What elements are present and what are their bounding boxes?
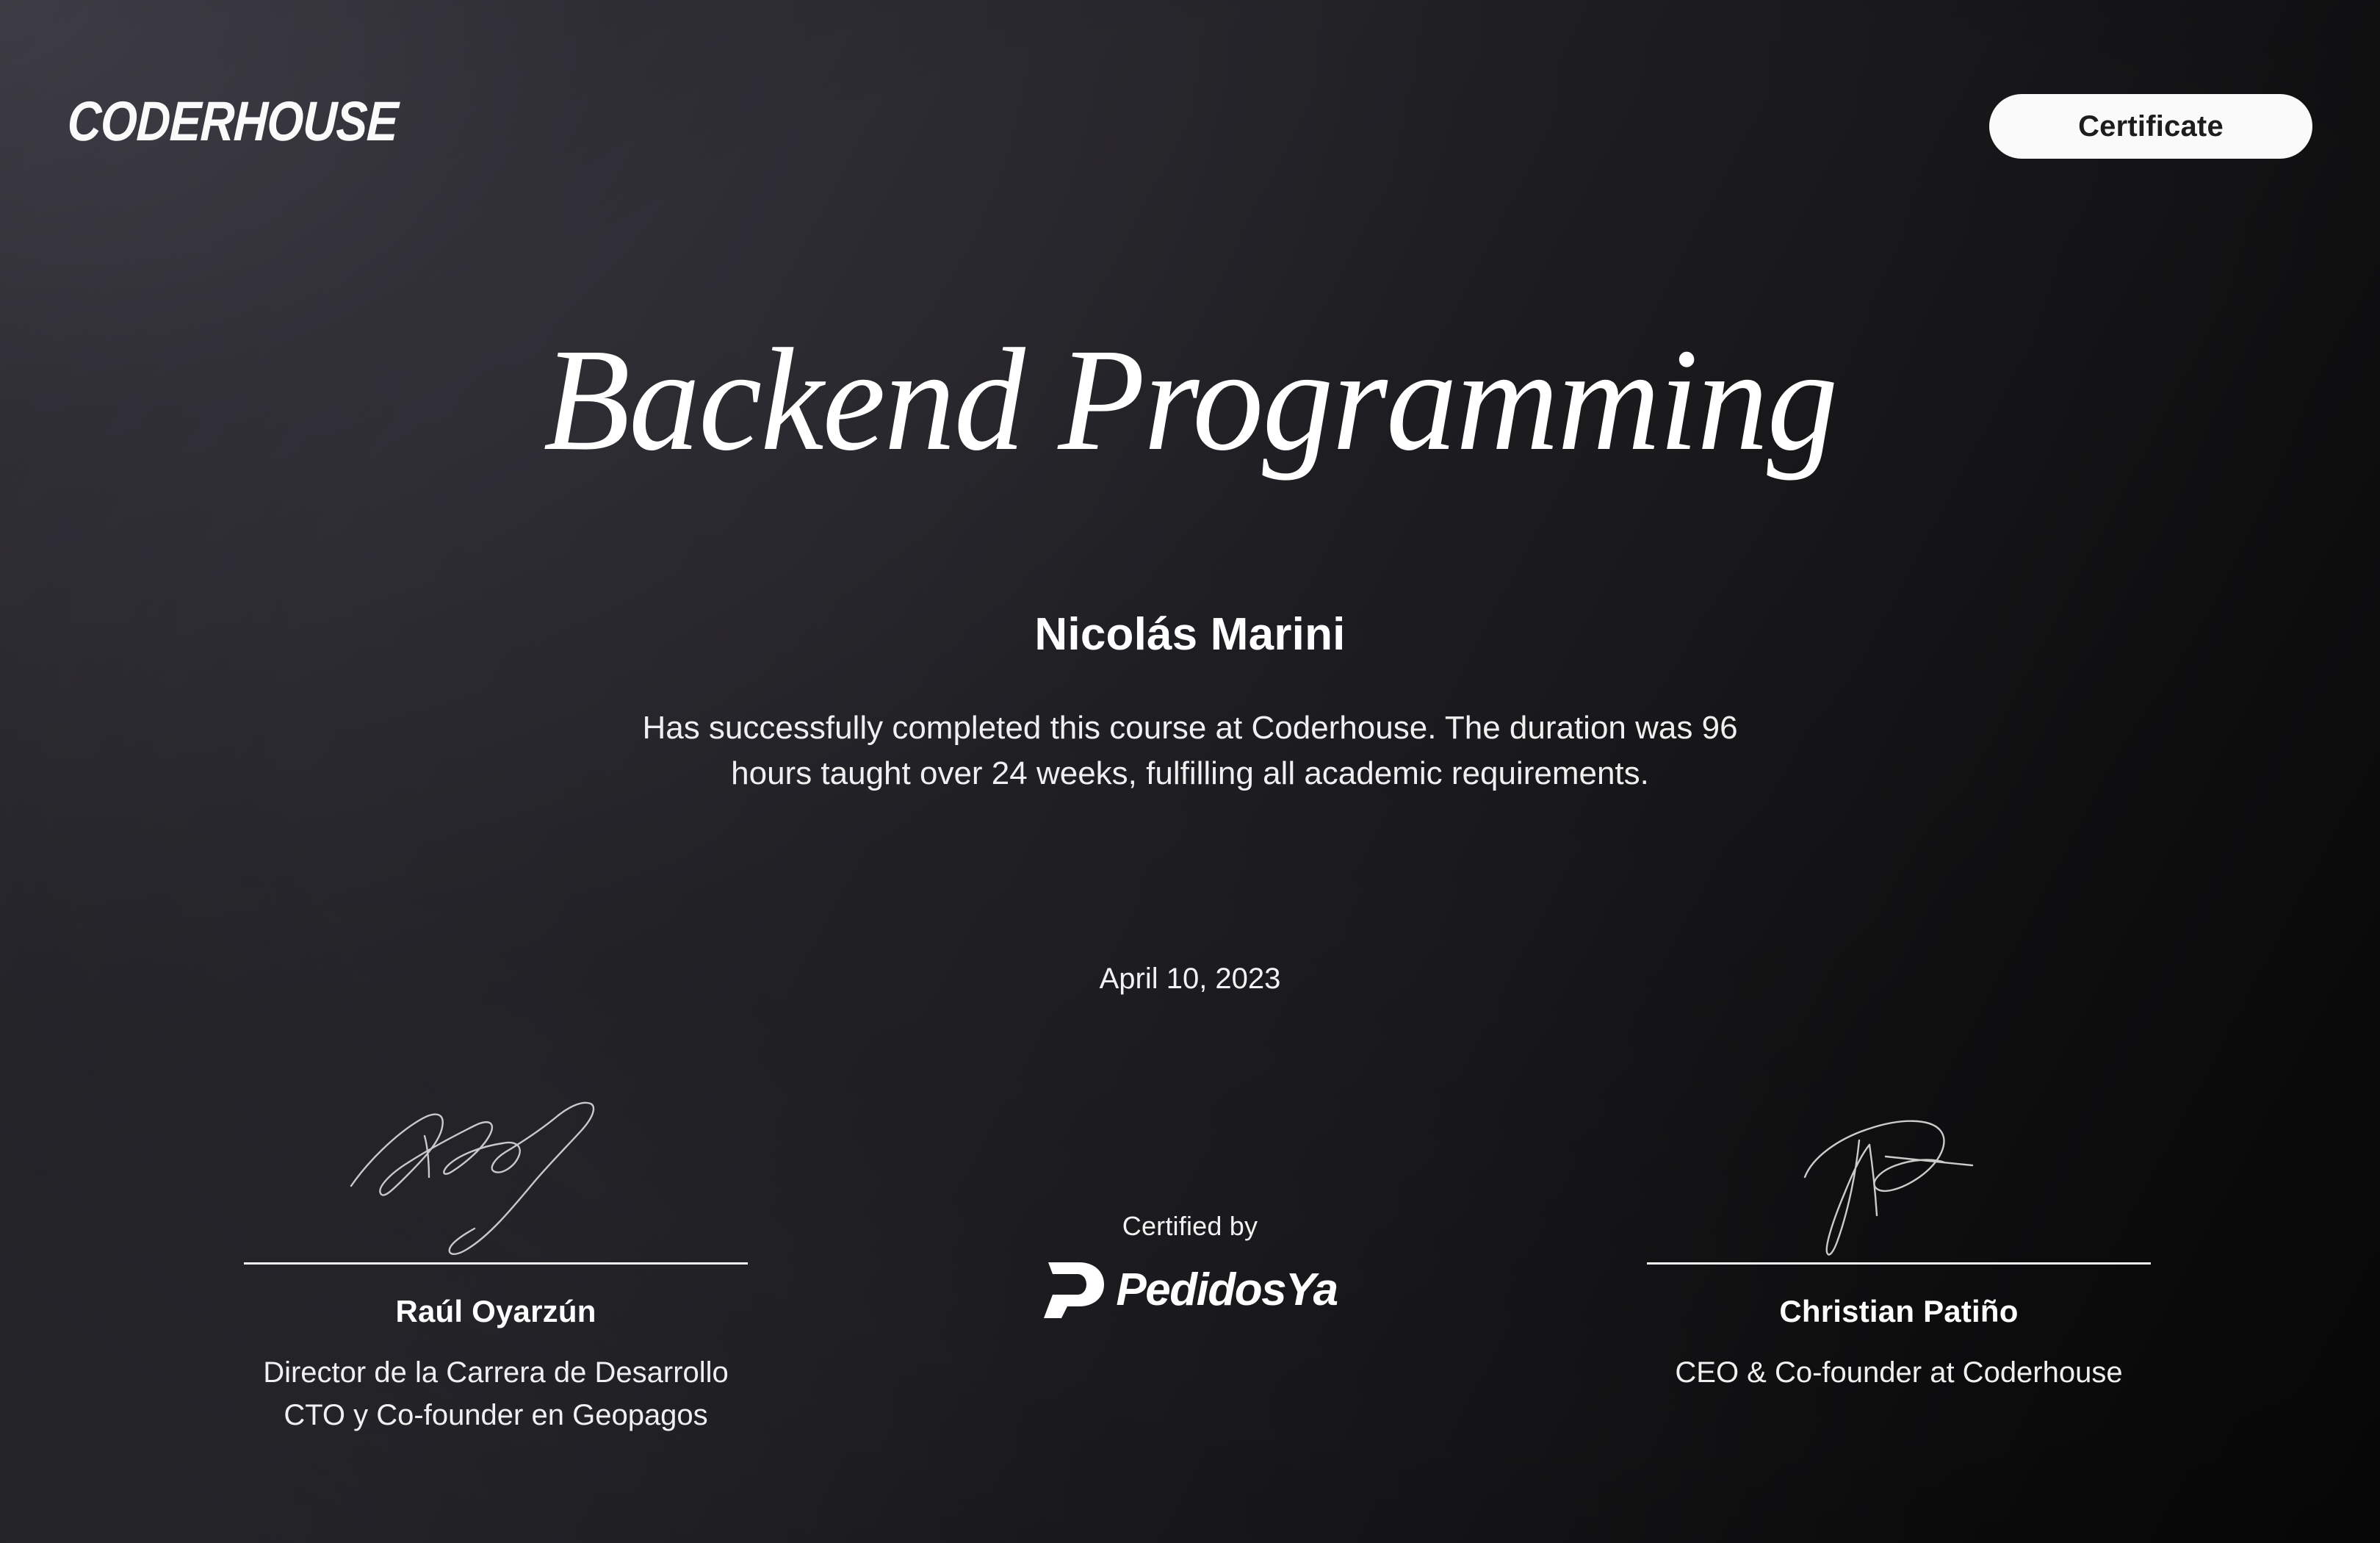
signature-block-right: Christian Patiño CEO & Co-founder at Cod… bbox=[1546, 1095, 2251, 1394]
signatory-roles-right: CEO & Co-founder at Coderhouse bbox=[1546, 1351, 2251, 1394]
certified-by-block: Certified by PedidosYa bbox=[911, 1211, 1469, 1320]
signatory-role-left-2: CTO y Co-founder en Geopagos bbox=[143, 1394, 848, 1436]
certificate-content: CODERHOUSE Certificate Backend Programmi… bbox=[0, 0, 2380, 1543]
student-name: Nicolás Marini bbox=[0, 608, 2380, 661]
handwritten-signature-icon bbox=[1546, 1095, 2251, 1262]
signatory-name-right: Christian Patiño bbox=[1546, 1294, 2251, 1329]
completion-statement: Has successfully completed this course a… bbox=[617, 705, 1763, 797]
signatory-role-right-1: CEO & Co-founder at Coderhouse bbox=[1546, 1351, 2251, 1394]
handwritten-signature-icon bbox=[143, 1095, 848, 1262]
issue-date: April 10, 2023 bbox=[0, 963, 2380, 996]
course-title: Backend Programming bbox=[36, 323, 2345, 478]
signatory-role-left-1: Director de la Carrera de Desarrollo bbox=[143, 1351, 848, 1394]
signature-block-left: Raúl Oyarzún Director de la Carrera de D… bbox=[143, 1095, 848, 1437]
certificate-badge-label: Certificate bbox=[2078, 110, 2224, 143]
signature-rule-left bbox=[244, 1262, 748, 1265]
signatory-name-left: Raúl Oyarzún bbox=[143, 1294, 848, 1329]
certificate-page: CODERHOUSE Certificate Backend Programmi… bbox=[0, 0, 2380, 1543]
partner-logo: PedidosYa bbox=[911, 1261, 1469, 1320]
coderhouse-logo: CODERHOUSE bbox=[66, 94, 399, 150]
signatory-roles-left: Director de la Carrera de Desarrollo CTO… bbox=[143, 1351, 848, 1437]
certificate-badge: Certificate bbox=[1989, 94, 2312, 159]
partner-wordmark: PedidosYa bbox=[1116, 1267, 1337, 1313]
signature-rule-right bbox=[1647, 1262, 2151, 1265]
certified-by-label: Certified by bbox=[911, 1211, 1469, 1242]
pedidosya-p-logo-icon bbox=[1042, 1261, 1106, 1320]
